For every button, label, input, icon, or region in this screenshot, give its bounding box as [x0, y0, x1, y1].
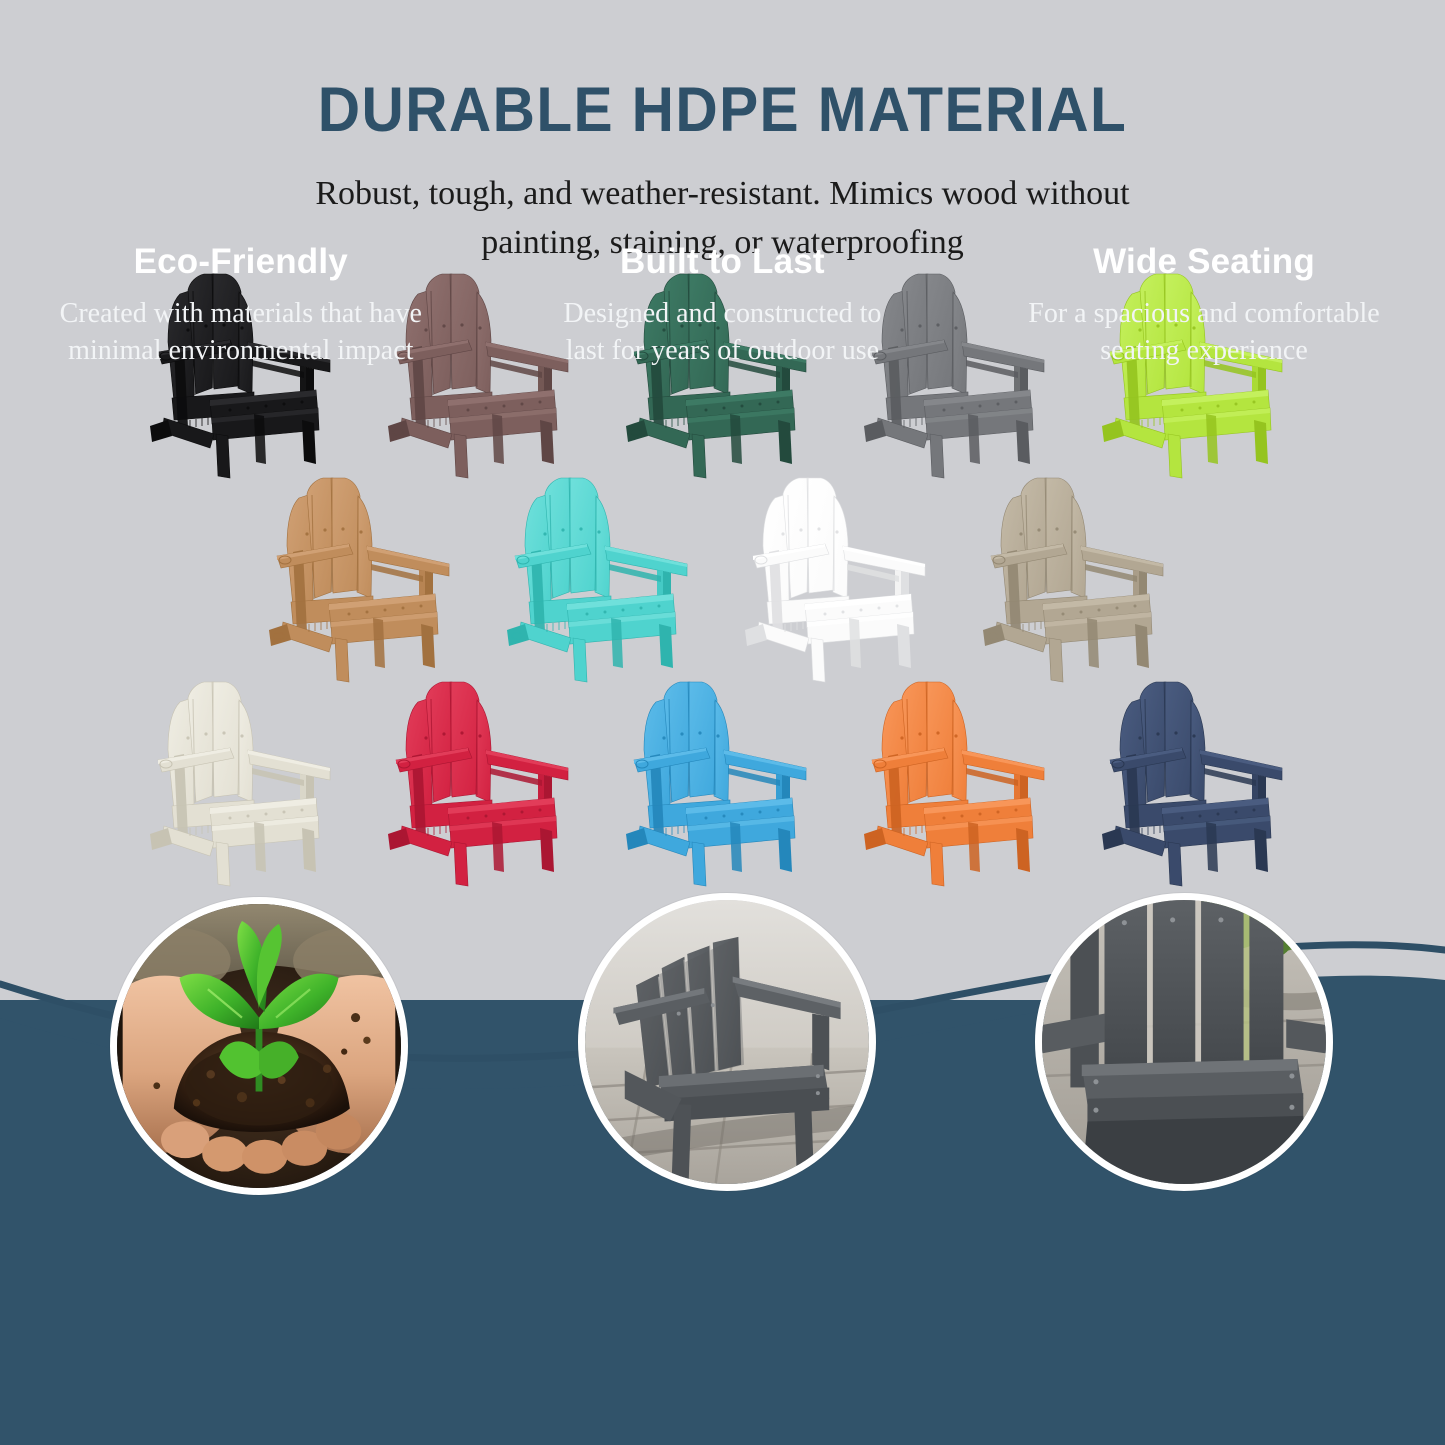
chair-swatch-orange[interactable]: [858, 676, 1064, 888]
chair-row-3: [0, 676, 1445, 888]
feature-image-eco-friendly: [110, 897, 408, 1195]
feature-desc-line-2: last for years of outdoor use: [566, 335, 879, 366]
feature-image-wide-seating: [1035, 893, 1333, 1191]
infographic-canvas: DURABLE HDPE MATERIAL Robust, tough, and…: [0, 0, 1445, 1445]
chair-swatch-red: [382, 676, 588, 888]
chair-swatch-orange: [858, 676, 1064, 888]
chair-swatch-turquoise[interactable]: [501, 472, 707, 684]
feature-title-eco-friendly: Eco-Friendly: [18, 242, 464, 282]
feature-column-eco-friendly: Eco-Friendly Created with materials that…: [0, 242, 482, 370]
feature-desc-line-2: seating experience: [1100, 335, 1308, 366]
chair-swatch-white: [739, 472, 945, 684]
feature-text-columns: Eco-Friendly Created with materials that…: [0, 242, 1445, 370]
feature-image-built-to-last: [578, 893, 876, 1191]
feature-desc-line-1: Created with materials that have: [60, 298, 422, 329]
feature-desc-line-1: Designed and constructed to: [563, 298, 881, 329]
chair-swatch-red[interactable]: [382, 676, 588, 888]
feature-title-built-to-last: Built to Last: [500, 242, 946, 282]
chair-row-2: [0, 472, 1445, 684]
feature-column-wide-seating: Wide Seating For a spacious and comforta…: [963, 242, 1445, 370]
chair-swatch-taupe: [977, 472, 1183, 684]
chair-swatch-ivory[interactable]: [144, 676, 350, 888]
chair-swatch-white[interactable]: [739, 472, 945, 684]
feature-circles: [0, 893, 1445, 1223]
feature-desc-line-1: For a spacious and comfortable: [1028, 298, 1379, 329]
chair-swatch-teak: [263, 472, 469, 684]
chair-swatch-taupe[interactable]: [977, 472, 1183, 684]
chair-swatch-turquoise: [501, 472, 707, 684]
chair-swatch-navy-blue: [1096, 676, 1302, 888]
subtitle-line-1: Robust, tough, and weather-resistant. Mi…: [218, 170, 1228, 218]
gray-adirondack-chair-icon: [585, 900, 869, 1184]
chair-swatch-ivory: [144, 676, 350, 888]
feature-desc-line-2: minimal environmental impact: [68, 335, 413, 366]
chair-swatch-light-blue: [620, 676, 826, 888]
feature-title-wide-seating: Wide Seating: [981, 242, 1427, 282]
header-section: DURABLE HDPE MATERIAL Robust, tough, and…: [0, 0, 1445, 267]
feature-column-built-to-last: Built to Last Designed and constructed t…: [482, 242, 964, 370]
chair-swatch-light-blue[interactable]: [620, 676, 826, 888]
feature-desc-eco-friendly: Created with materials that have minimal…: [18, 296, 464, 370]
chair-swatch-teak[interactable]: [263, 472, 469, 684]
page-title: DURABLE HDPE MATERIAL: [51, 78, 1395, 142]
wide-seat-closeup-icon: [1042, 900, 1326, 1184]
feature-desc-wide-seating: For a spacious and comfortable seating e…: [981, 296, 1427, 370]
feature-desc-built-to-last: Designed and constructed to last for yea…: [500, 296, 946, 370]
chair-swatch-navy-blue[interactable]: [1096, 676, 1302, 888]
seedling-in-hands-icon: [117, 904, 401, 1188]
